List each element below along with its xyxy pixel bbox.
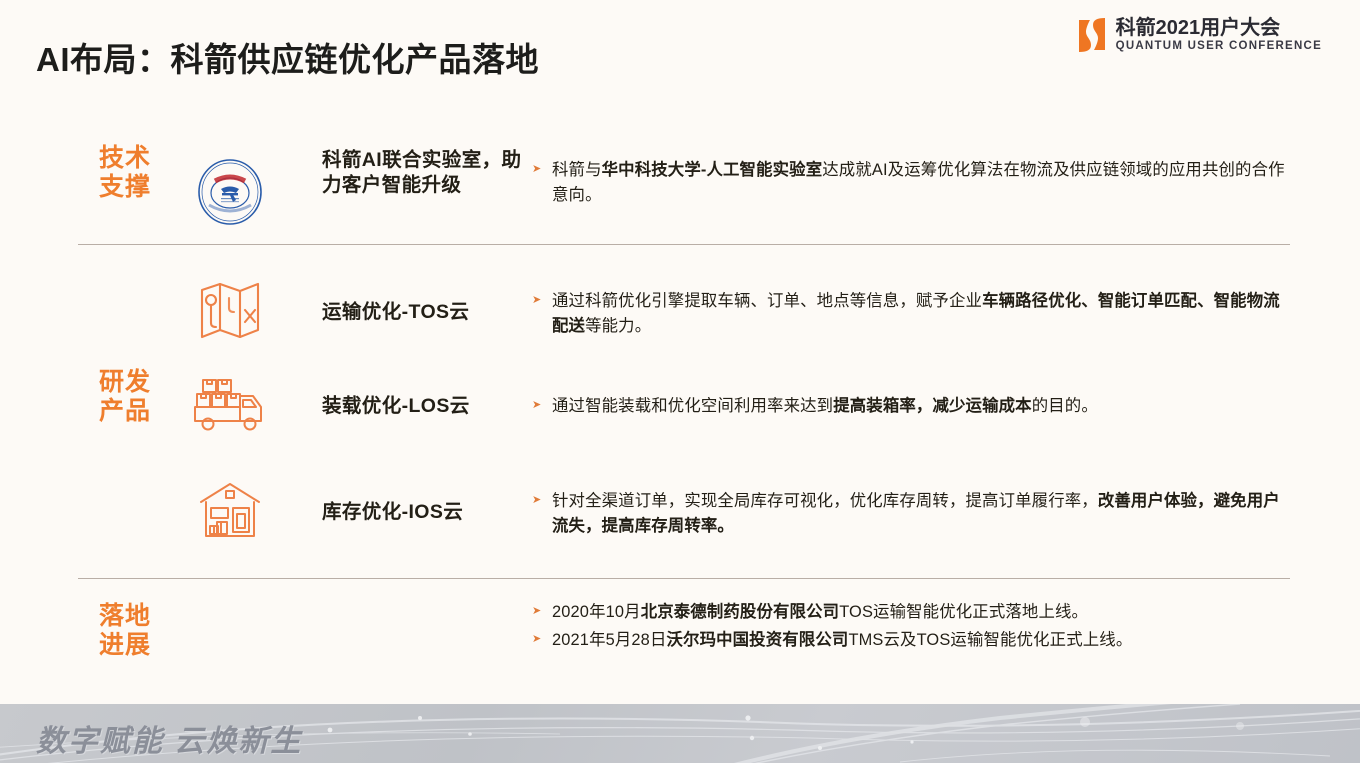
text-segment-bold: 沃尔玛中国投资有限公司 — [666, 631, 848, 649]
description-cell: 2020年10月北京泰德制药股份有限公司TOS运输智能优化正式落地上线。 202… — [532, 600, 1292, 654]
description-cell: 科箭与华中科技大学-人工智能实验室达成就AI及运筹优化算法在物流及供应链领域的应… — [532, 158, 1292, 209]
text-segment: 针对全渠道订单，实现全局库存可视化，优化库存周转，提高订单履行率， — [552, 492, 1098, 510]
row-ios: 库存优化-IOS云 针对全渠道订单，实现全局库存可视化，优化库存周转，提高订单履… — [0, 468, 1360, 558]
hust-university-logo-icon — [191, 153, 269, 231]
row-landing: 2020年10月北京泰德制药股份有限公司TOS运输智能优化正式落地上线。 202… — [0, 590, 1360, 682]
text-segment: 通过智能装载和优化空间利用率来达到 — [552, 397, 833, 415]
content-area: 技术 支撑 研发 产品 落地 进展 — [0, 100, 1360, 690]
text-segment-bold: 华中科技大学-人工智能实验室 — [602, 161, 823, 179]
quantum-s-mark-icon — [1077, 16, 1107, 54]
text-segment: 的目的。 — [1032, 397, 1098, 415]
product-name: 库存优化-IOS云 — [322, 500, 522, 525]
brand-title-en: QUANTUM USER CONFERENCE — [1116, 40, 1322, 52]
text-segment: TOS运输智能优化正式落地上线。 — [839, 603, 1088, 621]
icon-cell — [180, 268, 280, 358]
product-name: 运输优化-TOS云 — [322, 300, 522, 325]
text-segment: 通过科箭优化引擎提取车辆、订单、地点等信息，赋予企业 — [552, 292, 982, 310]
icon-cell — [180, 468, 280, 558]
bullet-item: 2020年10月北京泰德制药股份有限公司TOS运输智能优化正式落地上线。 — [532, 600, 1292, 625]
icon-cell — [180, 362, 280, 452]
section-divider-1 — [78, 244, 1290, 245]
bullet-item: 通过科箭优化引擎提取车辆、订单、地点等信息，赋予企业车辆路径优化、智能订单匹配、… — [532, 289, 1292, 340]
bullet-item: 科箭与华中科技大学-人工智能实验室达成就AI及运筹优化算法在物流及供应链领域的应… — [532, 158, 1292, 209]
truck-boxes-icon — [191, 374, 269, 441]
product-name: 科箭AI联合实验室，助力客户智能升级 — [322, 148, 522, 199]
icon-cell — [180, 146, 280, 238]
text-segment-bold: 北京泰德制药股份有限公司 — [641, 603, 840, 621]
warehouse-icon — [197, 480, 263, 547]
row-ai-lab: 科箭AI联合实验室，助力客户智能升级 科箭与华中科技大学-人工智能实验室达成就A… — [0, 140, 1360, 244]
description-cell: 通过科箭优化引擎提取车辆、订单、地点等信息，赋予企业车辆路径优化、智能订单匹配、… — [532, 289, 1292, 340]
text-segment: TMS云及TOS运输智能优化正式上线。 — [848, 631, 1132, 649]
brand-title-cn: 科箭2021用户大会 — [1116, 18, 1322, 39]
description-cell: 针对全渠道订单，实现全局库存可视化，优化库存周转，提高订单履行率，改善用户体验，… — [532, 489, 1292, 540]
bullet-item: 2021年5月28日沃尔玛中国投资有限公司TMS云及TOS运输智能优化正式上线。 — [532, 628, 1292, 653]
product-name: 装载优化-LOS云 — [322, 394, 522, 419]
text-segment: 等能力。 — [585, 317, 651, 335]
row-los: 装载优化-LOS云 通过智能装载和优化空间利用率来达到提高装箱率，减少运输成本的… — [0, 362, 1360, 452]
text-segment: 2020年10月 — [552, 603, 641, 621]
footer-slogan: 数字赋能 云焕新生 — [36, 716, 302, 760]
page-title: AI布局：科箭供应链优化产品落地 — [36, 33, 539, 81]
slide-footer: 数字赋能 云焕新生 — [0, 704, 1360, 763]
row-tos: 运输优化-TOS云 通过科箭优化引擎提取车辆、订单、地点等信息，赋予企业车辆路径… — [0, 268, 1360, 358]
description-cell: 通过智能装载和优化空间利用率来达到提高装箱率，减少运输成本的目的。 — [532, 394, 1292, 419]
text-segment: 科箭与 — [552, 161, 602, 179]
text-segment-bold: 提高装箱率，减少运输成本 — [833, 397, 1032, 415]
text-segment: 2021年5月28日 — [552, 631, 666, 649]
section-divider-2 — [78, 578, 1290, 579]
slide-header: AI布局：科箭供应链优化产品落地 科箭2021用户大会 QUANTUM USER… — [0, 0, 1360, 100]
bullet-item: 通过智能装载和优化空间利用率来达到提高装箱率，减少运输成本的目的。 — [532, 394, 1292, 419]
conference-logo: 科箭2021用户大会 QUANTUM USER CONFERENCE — [1077, 16, 1322, 54]
bullet-item: 针对全渠道订单，实现全局库存可视化，优化库存周转，提高订单履行率，改善用户体验，… — [532, 489, 1292, 540]
map-route-icon — [196, 278, 264, 349]
